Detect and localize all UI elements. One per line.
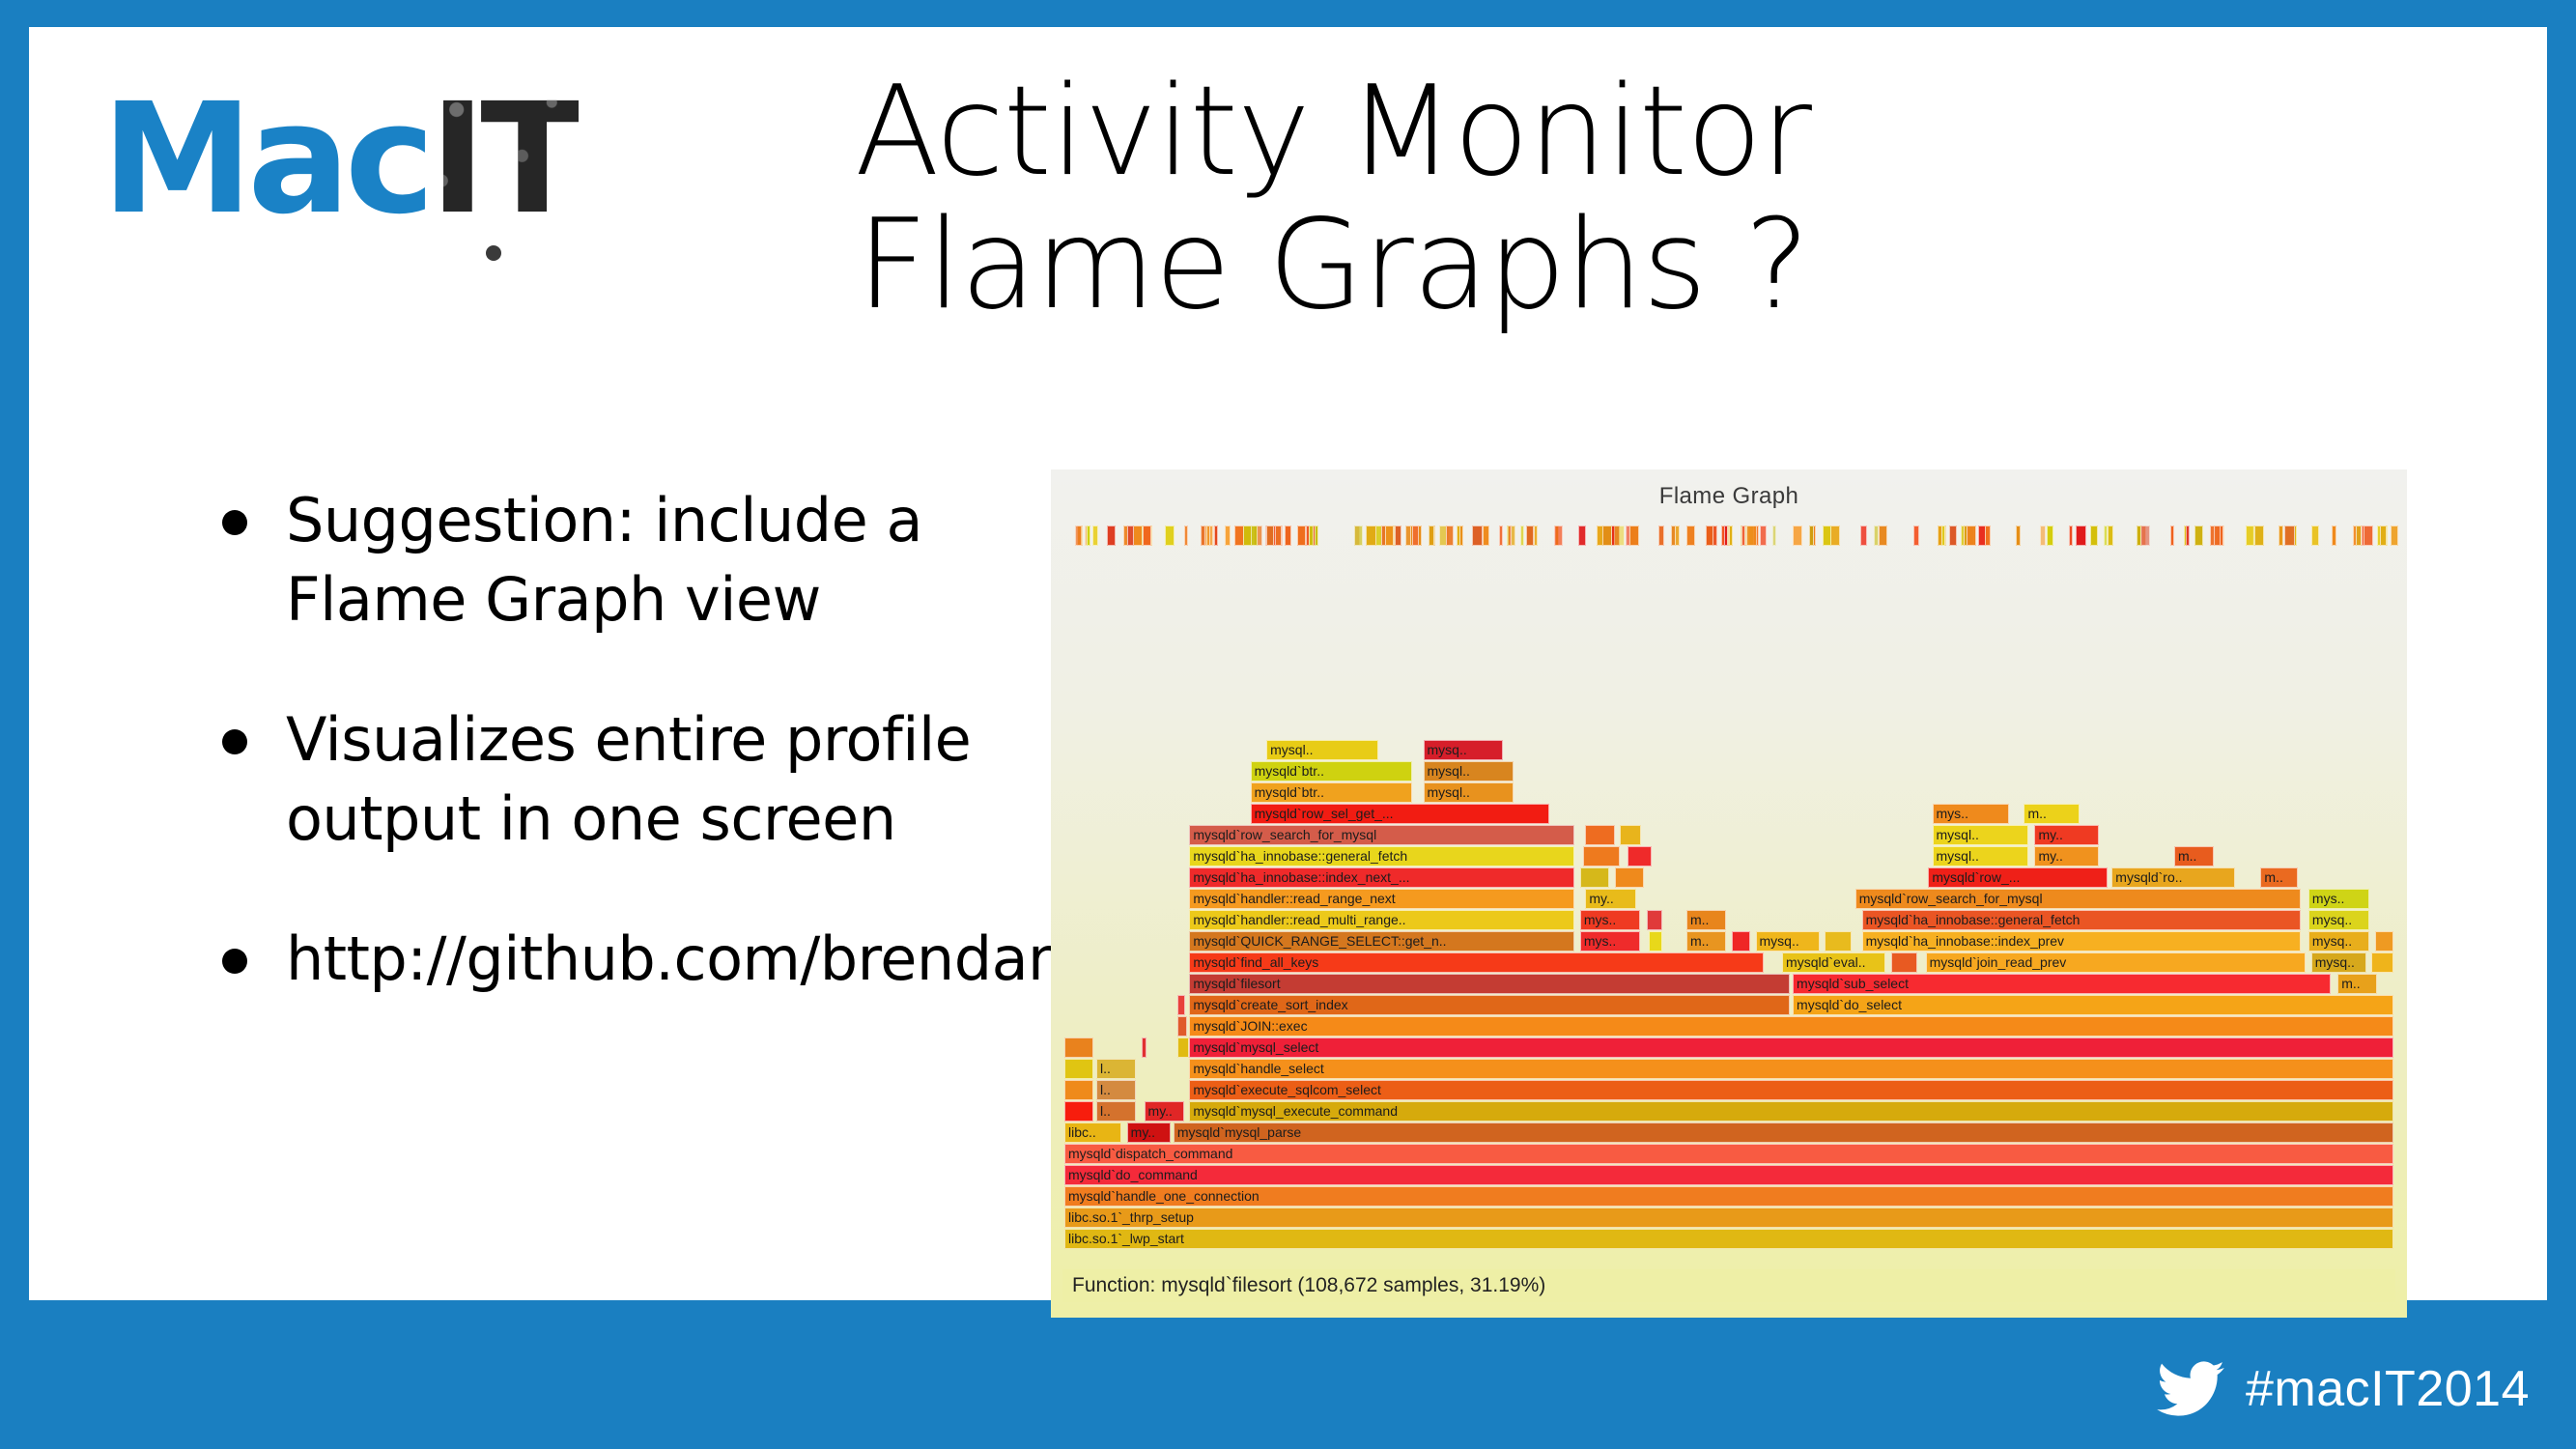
bullet-dot-icon: [222, 729, 247, 754]
flame-graph-frame[interactable]: [1309, 526, 1314, 546]
flame-graph-frame[interactable]: m..: [2260, 867, 2298, 888]
flame-graph-frame[interactable]: mysqld`do_select: [1793, 995, 2393, 1015]
flame-graph-frame[interactable]: [1225, 526, 1231, 546]
flame-graph-frame[interactable]: [1891, 952, 1918, 973]
flame-graph-frame[interactable]: [1585, 825, 1614, 845]
logo-mac-text: Mac: [101, 71, 430, 248]
flame-graph-row: libc..my..mysqld`mysql_parse: [1064, 1122, 2393, 1144]
flame-graph-frame[interactable]: mysqld`handle_one_connection: [1064, 1186, 2393, 1207]
flame-graph-frame[interactable]: mysqld`ha_innobase::general_fetch: [1862, 910, 2301, 930]
flame-graph-frame[interactable]: [1649, 931, 1662, 952]
flame-graph-frame[interactable]: [1602, 526, 1612, 546]
flame-graph-frame[interactable]: [1628, 846, 1652, 867]
flame-graph-frame[interactable]: [1874, 526, 1880, 546]
flame-graph-frame[interactable]: l..: [1096, 1080, 1136, 1100]
flame-graph-frame[interactable]: [1629, 526, 1639, 546]
flame-graph-frame[interactable]: mysqld`ha_innobase::general_fetch: [1189, 846, 1574, 867]
flame-graph-frame[interactable]: [2040, 526, 2046, 546]
flame-graph-frame[interactable]: [2214, 526, 2221, 546]
flame-graph-frame[interactable]: [1823, 526, 1831, 546]
flame-graph-row: mysqld`ha_innobase::index_next_...mysqld…: [1064, 867, 2393, 889]
flame-graph-frame[interactable]: mysqld`QUICK_RANGE_SELECT::get_n..: [1189, 931, 1574, 952]
flame-graph-frame[interactable]: mysql..: [1424, 761, 1514, 781]
flame-graph-frame[interactable]: [1127, 526, 1134, 546]
flame-graph-frame[interactable]: m..: [1686, 910, 1726, 930]
flame-graph-frame[interactable]: [1760, 526, 1767, 546]
flame-graph-row: mysqld`dispatch_command: [1064, 1144, 2393, 1165]
flame-graph-frame[interactable]: mysqld`create_sort_index: [1189, 995, 1790, 1015]
flame-graph-frame[interactable]: mysqld`filesort: [1189, 974, 1790, 994]
page-title: Activity Monitor Flame Graphs ?: [512, 66, 2154, 332]
flame-graph-frame[interactable]: l..: [1096, 1059, 1136, 1079]
flame-graph-frame[interactable]: mysqld`row_search_for_mysql: [1855, 889, 2301, 909]
flame-graph-row: mysqld`mysql_select: [1064, 1037, 2393, 1059]
flame-graph-frame[interactable]: [1092, 526, 1097, 546]
flame-graph-frame[interactable]: mysqld`btr..: [1251, 782, 1413, 803]
flame-graph-frame[interactable]: [1412, 526, 1420, 546]
flame-graph-frame[interactable]: [1429, 526, 1434, 546]
flame-graph-row: mysqld`handler::read_multi_range..mys..m…: [1064, 910, 2393, 931]
flame-graph-row: mysqld`btr..mysql..: [1064, 761, 2393, 782]
flame-graph-frame[interactable]: [1446, 526, 1455, 546]
flame-graph-frame[interactable]: my..: [2034, 825, 2098, 845]
flame-graph-frame[interactable]: [1354, 526, 1363, 546]
flame-graph-canvas[interactable]: libc.so.1`_lwp_startlibc.so.1`_thrp_setu…: [1064, 526, 2393, 1250]
flame-graph-row: mysqld`handler::read_range_nextmy..mysql…: [1064, 889, 2393, 910]
flame-graph-row: mysqld`QUICK_RANGE_SELECT::get_n..mys..m…: [1064, 931, 2393, 952]
flame-graph-frame[interactable]: [1266, 526, 1275, 546]
flame-graph-frame[interactable]: [1580, 867, 1609, 888]
flame-graph-frame[interactable]: mysql..: [1933, 846, 2028, 867]
flame-graph-frame[interactable]: [1064, 1037, 1093, 1058]
flame-graph-frame[interactable]: [1675, 526, 1680, 546]
flame-graph-frame[interactable]: mysqld`mysql_execute_command: [1189, 1101, 2393, 1122]
flame-graph-frame[interactable]: [1087, 526, 1090, 546]
flame-graph-frame[interactable]: mysqld`handler::read_range_next: [1189, 889, 1574, 909]
flame-graph-frame[interactable]: [1583, 846, 1621, 867]
flame-graph-frame[interactable]: [1315, 526, 1319, 546]
flame-graph-row: mysqld`find_all_keysmysqld`eval..mysqld`…: [1064, 952, 2393, 974]
flame-graph-frame[interactable]: mysql..: [1933, 825, 2028, 845]
flame-graph-frame[interactable]: mysql..: [1266, 740, 1378, 760]
flame-graph-frame[interactable]: m..: [2024, 804, 2080, 824]
flame-graph-panel[interactable]: Flame Graph libc.so.1`_lwp_startlibc.so.…: [1051, 469, 2407, 1318]
flame-graph-frame[interactable]: [1457, 526, 1460, 546]
logo-dot: [486, 245, 501, 261]
flame-graph-frame[interactable]: [1214, 526, 1218, 546]
flame-graph-frame[interactable]: my..: [2034, 846, 2098, 867]
flame-graph-row: libc.so.1`_lwp_start: [1064, 1229, 2393, 1250]
flame-graph-frame[interactable]: libc.so.1`_thrp_setup: [1064, 1207, 2393, 1228]
flame-graph-frame[interactable]: [2016, 526, 2021, 546]
bullet-dot-icon: [222, 510, 247, 535]
flame-graph-frame[interactable]: [1251, 526, 1258, 546]
flame-graph-frame[interactable]: mysqld`row_sel_get_...: [1251, 804, 1550, 824]
flame-graph-frame[interactable]: [2076, 526, 2086, 546]
flame-graph-frame[interactable]: [2332, 526, 2336, 546]
flame-graph-frame[interactable]: [1385, 526, 1395, 546]
flame-graph-frame[interactable]: [2108, 526, 2113, 546]
flame-graph-frame[interactable]: mysqld`row_search_for_mysql: [1189, 825, 1574, 845]
flame-graph-frame[interactable]: [1949, 526, 1958, 546]
flame-graph-frame[interactable]: mysqld`btr..: [1251, 761, 1413, 781]
flame-graph-row: mysqld`handle_one_connection: [1064, 1186, 2393, 1207]
flame-graph-frame[interactable]: [1825, 931, 1852, 952]
flame-graph-frame[interactable]: mysqld`handler::read_multi_range..: [1189, 910, 1574, 930]
flame-graph-frame[interactable]: [1658, 526, 1664, 546]
flame-graph-frame[interactable]: mysq..: [1424, 740, 1504, 760]
flame-graph-frame[interactable]: [1064, 1080, 1093, 1100]
flame-graph-frame[interactable]: [2090, 526, 2098, 546]
flame-graph-frame[interactable]: [2284, 526, 2295, 546]
flame-graph-frame[interactable]: [1967, 526, 1976, 546]
flame-graph-frame[interactable]: [1578, 526, 1586, 546]
flame-graph-frame[interactable]: [1706, 526, 1713, 546]
footer-hashtag: #macIT2014: [2246, 1360, 2530, 1418]
flame-graph-frame[interactable]: [1879, 526, 1887, 546]
flame-graph-frame[interactable]: [1729, 526, 1733, 546]
flame-graph-frame[interactable]: mysqld`find_all_keys: [1189, 952, 1763, 973]
list-item: Suggestion: include a Flame Graph view: [222, 481, 976, 640]
flame-graph-frame[interactable]: mys..: [1933, 804, 2010, 824]
bullet-text: Visualizes entire profile output in one …: [286, 700, 976, 860]
bullet-dot-icon: [222, 949, 247, 974]
flame-graph-frame[interactable]: [2380, 526, 2387, 546]
flame-graph-frame[interactable]: [1772, 526, 1776, 546]
bullet-text: Suggestion: include a Flame Graph view: [286, 481, 976, 640]
flame-graph-frame[interactable]: [1741, 526, 1745, 546]
flame-graph-frame[interactable]: [1941, 526, 1945, 546]
macit-logo: MacIT: [101, 83, 497, 286]
flame-graph-frame[interactable]: mysq..: [2308, 910, 2369, 930]
flame-graph-row: l..my..mysqld`mysql_execute_command: [1064, 1101, 2393, 1122]
flame-graph-frame[interactable]: [1206, 526, 1210, 546]
flame-graph-frame[interactable]: [1184, 526, 1189, 546]
flame-graph-frame[interactable]: [2194, 526, 2203, 546]
flame-graph-frame[interactable]: [2356, 526, 2362, 546]
flame-graph-frame[interactable]: [1860, 526, 1867, 546]
flame-graph-frame[interactable]: [1526, 526, 1534, 546]
flame-graph-frame[interactable]: m..: [1686, 931, 1726, 952]
flame-graph-frame[interactable]: my..: [1585, 889, 1635, 909]
flame-graph-frame[interactable]: [1732, 931, 1750, 952]
flame-graph-row: mysqld`create_sort_indexmysqld`do_select: [1064, 995, 2393, 1016]
flame-graph-frame[interactable]: mysqld`ha_innobase::index_prev: [1862, 931, 2301, 952]
flame-graph-row: mysqld`row_sel_get_...mys..m..: [1064, 804, 2393, 825]
slide-frame: MacIT Activity Monitor Flame Graphs ? Su…: [0, 0, 2576, 1449]
flame-graph-frame[interactable]: [1508, 526, 1512, 546]
flame-graph-frame[interactable]: [1647, 910, 1663, 930]
flame-graph-frame[interactable]: [1686, 526, 1696, 546]
flame-graph-frame[interactable]: my..: [1145, 1101, 1184, 1122]
flame-graph-frame[interactable]: m..: [2337, 974, 2377, 994]
flame-graph-frame[interactable]: [1201, 526, 1205, 546]
flame-graph-row: mysqld`do_command: [1064, 1165, 2393, 1186]
flame-graph-frame[interactable]: mysqld`sub_select: [1793, 974, 2331, 994]
flame-graph-frame[interactable]: [2375, 931, 2393, 952]
flame-graph-frame[interactable]: mysqld`join_read_prev: [1926, 952, 2307, 973]
flame-graph-frame[interactable]: [2279, 526, 2283, 546]
flame-graph-frame[interactable]: [1520, 526, 1524, 546]
flame-graph-frame[interactable]: mysqld`eval..: [1782, 952, 1885, 973]
flame-graph-frame[interactable]: [1554, 526, 1563, 546]
flame-graph-frame[interactable]: [2311, 526, 2319, 546]
flame-graph-frame[interactable]: [1913, 526, 1920, 546]
flame-graph-frame[interactable]: [1107, 526, 1116, 546]
flame-graph-frame[interactable]: [2170, 526, 2174, 546]
flame-graph-frame[interactable]: [1064, 1059, 1093, 1079]
flame-graph-frame[interactable]: libc..: [1064, 1122, 1121, 1143]
flame-graph-frame[interactable]: [2391, 526, 2397, 546]
flame-graph-frame[interactable]: [1793, 526, 1802, 546]
flame-graph-frame[interactable]: [1614, 526, 1625, 546]
flame-graph-frame[interactable]: [2371, 952, 2393, 973]
flame-graph-frame[interactable]: mysql..: [1424, 782, 1514, 803]
flame-graph-frame[interactable]: mysqld`dispatch_command: [1064, 1144, 2393, 1164]
flame-graph-frame[interactable]: [1177, 1037, 1189, 1058]
list-item: http://github.com/brendangregg/FlameGrap…: [222, 920, 976, 999]
flame-graph-frame[interactable]: [2186, 526, 2190, 546]
flame-graph-status-bar: Function: mysqld`filesort (108,672 sampl…: [1062, 1269, 2395, 1302]
flame-graph-frame[interactable]: [2364, 526, 2374, 546]
flame-graph-frame[interactable]: [1405, 526, 1411, 546]
flame-graph-frame[interactable]: mys..: [1580, 910, 1640, 930]
flame-graph-row: mysqld`row_search_for_mysqlmysql..my..: [1064, 825, 2393, 846]
footer-right: #macIT2014: [2157, 1360, 2530, 1418]
flame-graph-frame[interactable]: mysqld`row_...: [1928, 867, 2108, 888]
flame-graph-frame[interactable]: mysqld`execute_sqlcom_select: [1189, 1080, 2393, 1100]
flame-graph-frame[interactable]: mysqld`do_command: [1064, 1165, 2393, 1185]
flame-graph-frame[interactable]: [2137, 526, 2140, 546]
logo-wordmark: MacIT: [101, 83, 497, 236]
flame-graph-frame[interactable]: [1809, 526, 1814, 546]
flame-graph-frame[interactable]: [1534, 526, 1538, 546]
flame-graph-frame[interactable]: [1075, 526, 1082, 546]
flame-graph-frame[interactable]: [1177, 995, 1185, 1015]
flame-graph-frame[interactable]: libc.so.1`_lwp_start: [1064, 1229, 2393, 1249]
flame-graph-frame[interactable]: [2246, 526, 2254, 546]
flame-graph-row: libc.so.1`_thrp_setup: [1064, 1207, 2393, 1229]
footer-bar: #macIT2014: [0, 1328, 2576, 1449]
flame-graph-frame[interactable]: [1143, 526, 1151, 546]
flame-graph-frame[interactable]: [1285, 526, 1291, 546]
flame-graph-frame[interactable]: [1615, 867, 1644, 888]
flame-graph-frame[interactable]: [1472, 526, 1483, 546]
flame-graph-row: l..mysqld`handle_select: [1064, 1059, 2393, 1080]
flame-graph-frame[interactable]: [2069, 526, 2073, 546]
flame-graph-frame[interactable]: mysqld`JOIN::exec: [1189, 1016, 2393, 1037]
list-item: Visualizes entire profile output in one …: [222, 700, 976, 860]
flame-graph-frame[interactable]: mysqld`ha_innobase::index_next_...: [1189, 867, 1574, 888]
flame-graph-row: mysqld`ha_innobase::general_fetchmysql..…: [1064, 846, 2393, 867]
flame-graph-frame[interactable]: [1830, 526, 1840, 546]
page-title-line1: Activity Monitor: [512, 66, 2154, 199]
flame-graph-frame[interactable]: mysqld`mysql_select: [1189, 1037, 2393, 1058]
flame-graph-frame[interactable]: [1297, 526, 1306, 546]
flame-graph-row: mysql..mysq..: [1064, 740, 2393, 761]
flame-graph-title: Flame Graph: [1051, 483, 2407, 510]
flame-graph-frame[interactable]: [1620, 825, 1641, 845]
page-title-line2: Flame Graphs ?: [512, 199, 2154, 332]
flame-graph-frame[interactable]: mysqld`ro..: [2111, 867, 2235, 888]
twitter-bird-icon: [2157, 1361, 2224, 1417]
flame-graph-frame[interactable]: [2104, 526, 2108, 546]
flame-graph-frame[interactable]: mysq..: [2311, 952, 2367, 973]
flame-graph-frame[interactable]: mys..: [1580, 931, 1640, 952]
flame-graph-row: mysqld`filesortmysqld`sub_selectm..: [1064, 974, 2393, 995]
flame-graph-frame[interactable]: [1142, 1037, 1147, 1058]
flame-graph-row: mysqld`JOIN::exec: [1064, 1016, 2393, 1037]
flame-graph-frame[interactable]: [1746, 526, 1757, 546]
flame-graph-frame[interactable]: [1366, 526, 1376, 546]
flame-graph-frame[interactable]: mysqld`handle_select: [1189, 1059, 2393, 1079]
flame-graph-frame[interactable]: [1499, 526, 1503, 546]
flame-graph-frame[interactable]: my..: [1127, 1122, 1171, 1143]
flame-graph-frame[interactable]: mysqld`mysql_parse: [1174, 1122, 2393, 1143]
flame-graph-row: mysqld`btr..mysql..: [1064, 782, 2393, 804]
slide-body: MacIT Activity Monitor Flame Graphs ? Su…: [29, 27, 2547, 1300]
flame-graph-frame[interactable]: mysq..: [1756, 931, 1820, 952]
flame-graph-frame[interactable]: m..: [2174, 846, 2214, 867]
flame-graph-row: l..mysqld`execute_sqlcom_select: [1064, 1080, 2393, 1101]
flame-graph-frame[interactable]: [2047, 526, 2053, 546]
flame-graph-frame[interactable]: [1177, 1016, 1187, 1037]
flame-graph-frame[interactable]: mysq..: [2308, 931, 2369, 952]
flame-graph-frame[interactable]: [1165, 526, 1175, 546]
bullet-list: Suggestion: include a Flame Graph view V…: [222, 481, 976, 1059]
flame-graph-frame[interactable]: [2254, 526, 2264, 546]
flame-graph-frame[interactable]: [1483, 526, 1489, 546]
flame-graph-frame[interactable]: l..: [1096, 1101, 1136, 1122]
flame-graph-frame[interactable]: [1064, 1101, 1093, 1122]
flame-graph-frame[interactable]: [1985, 526, 1991, 546]
flame-graph-frame[interactable]: mys..: [2308, 889, 2369, 909]
